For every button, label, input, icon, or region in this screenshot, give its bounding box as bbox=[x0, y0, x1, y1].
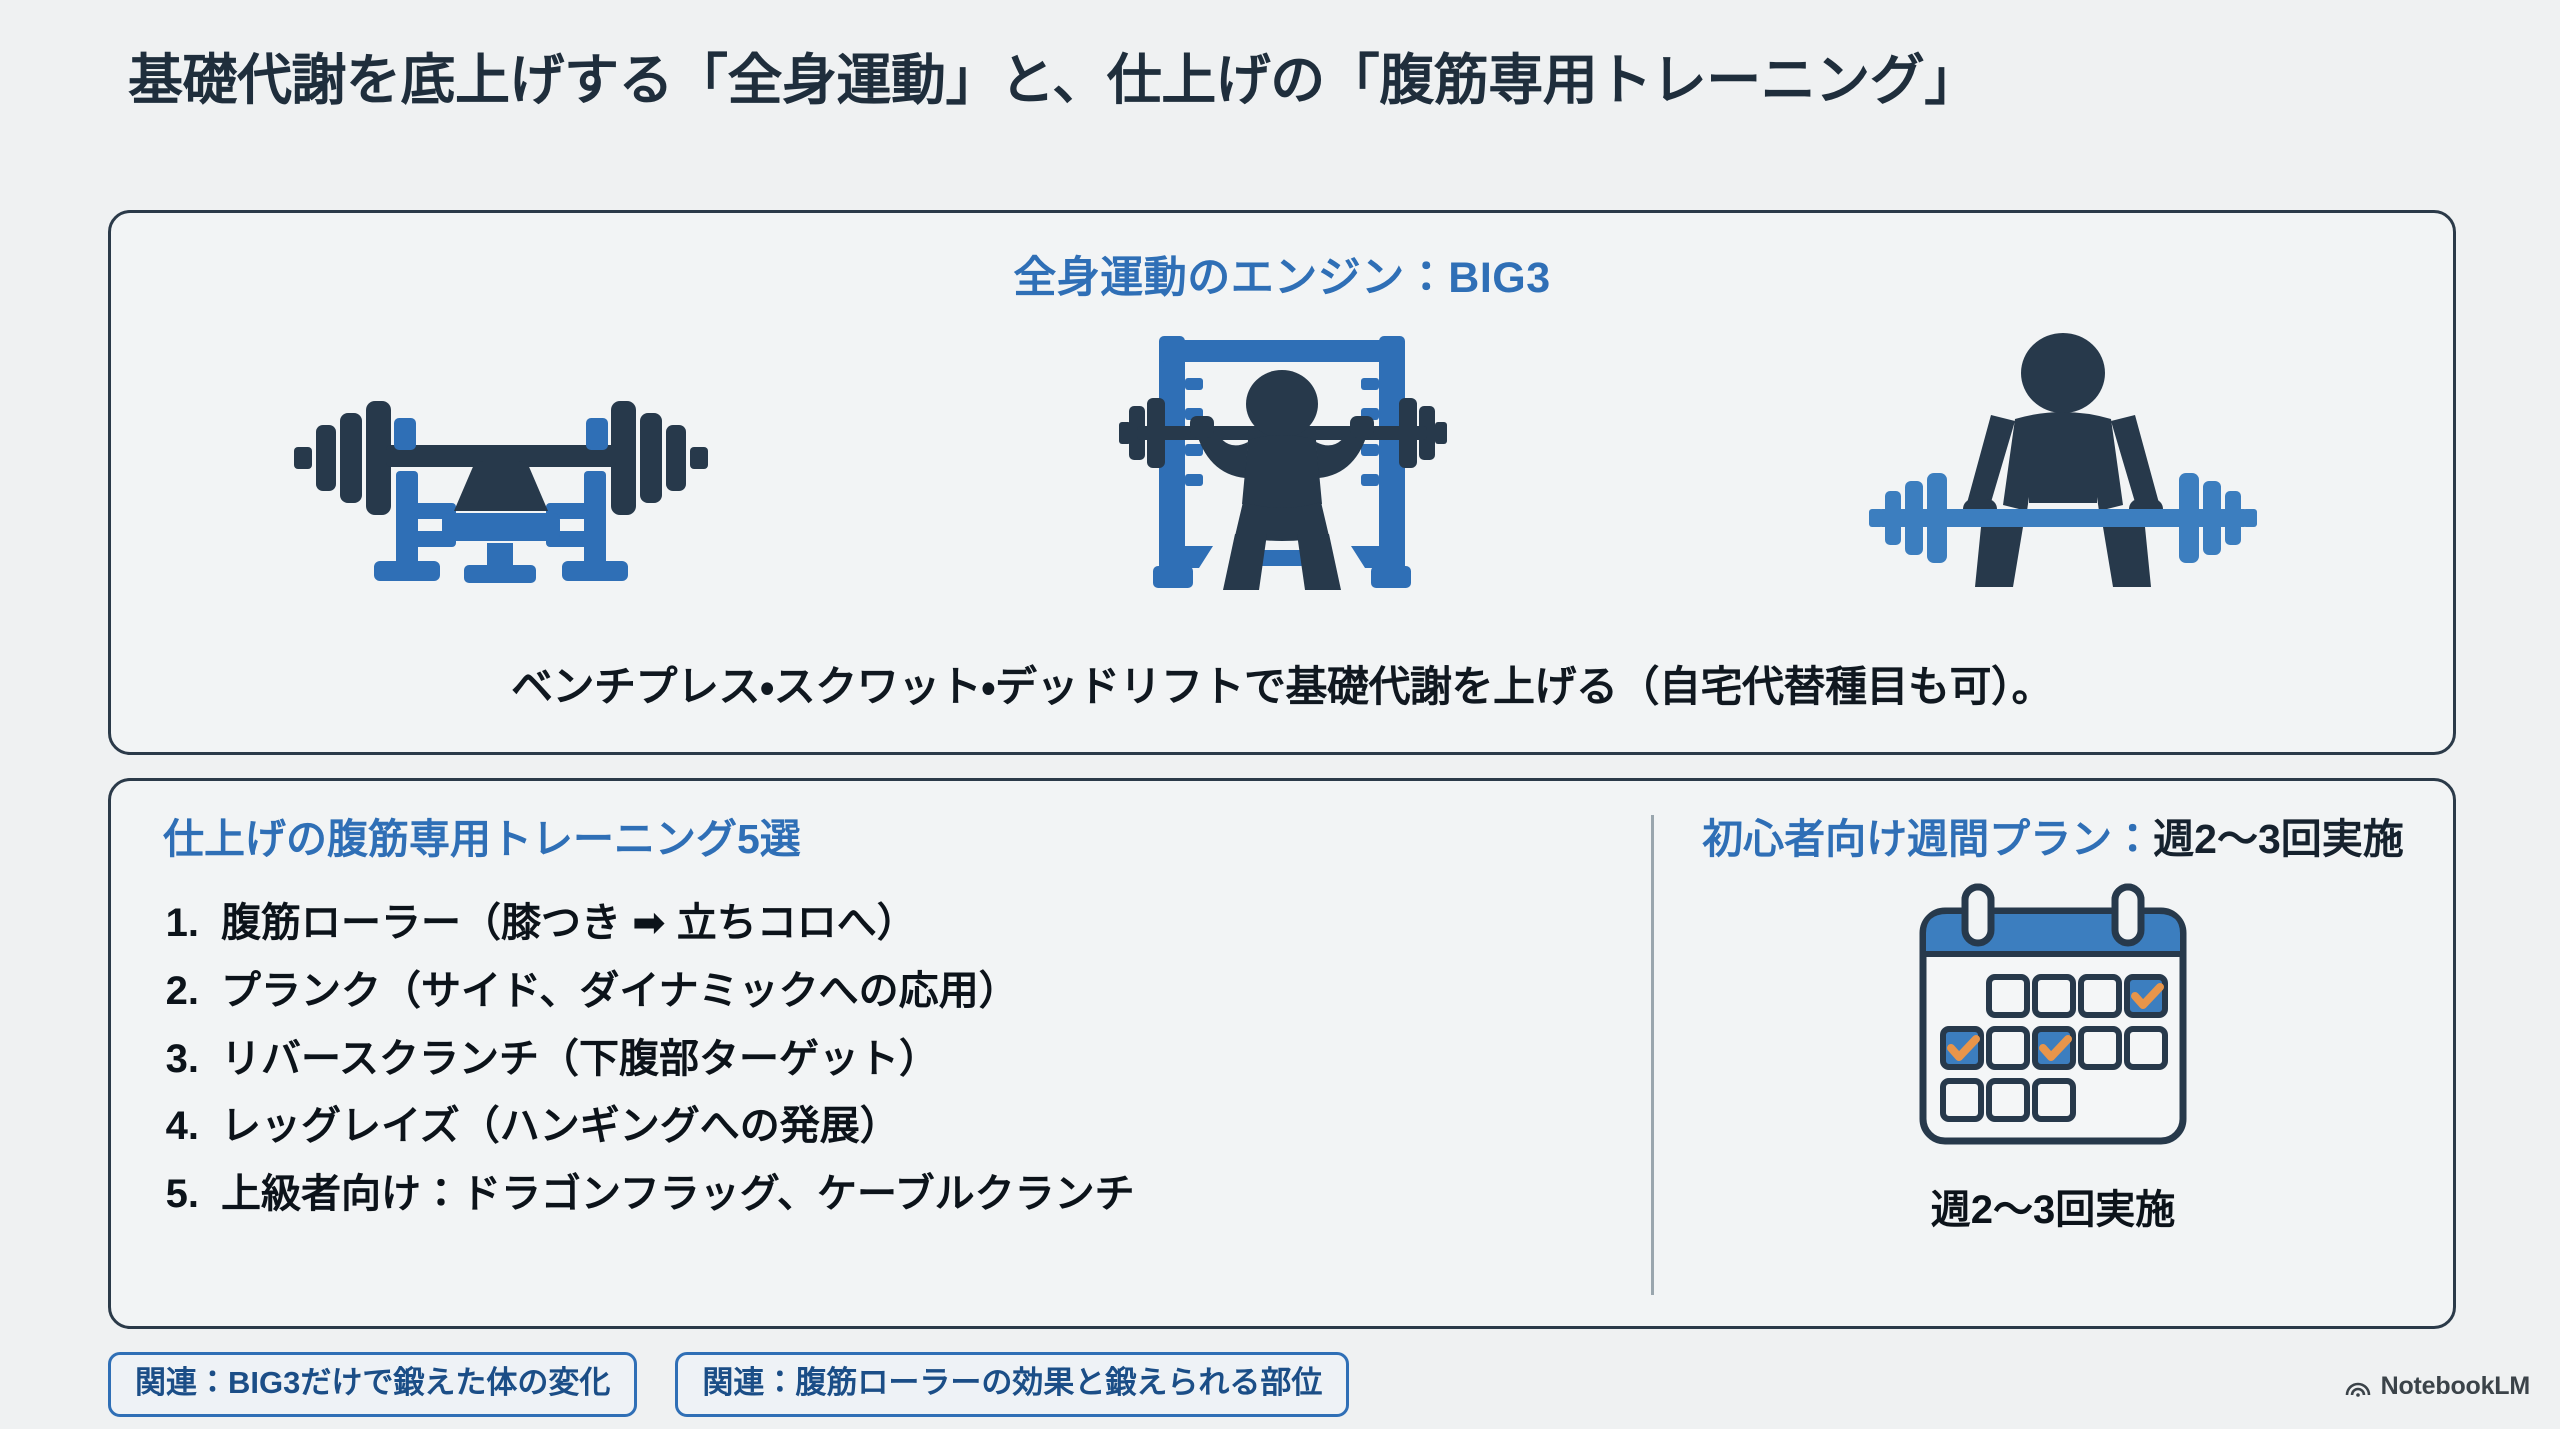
calendar-icon bbox=[1907, 883, 2199, 1155]
notebooklm-label: NotebookLM bbox=[2381, 1372, 2530, 1401]
list-item: 5. 上級者向け：ドラゴンフラッグ、ケーブルクランチ bbox=[149, 1170, 1609, 1219]
abs-and-plan-panel: 仕上げの腹筋専用トレーニング5選 1. 腹筋ローラー（膝つき ➡ 立ちコロへ） … bbox=[108, 778, 2456, 1329]
plan-column: 初心者向け週間プラン：週2〜3回実施 bbox=[1683, 805, 2423, 1305]
calendar-wrapper bbox=[1683, 883, 2423, 1155]
list-item-number: 5. bbox=[149, 1170, 221, 1219]
deadlift-icon bbox=[1783, 318, 2343, 608]
big3-panel: 全身運動のエンジン：BIG3 bbox=[108, 210, 2456, 755]
column-divider bbox=[1651, 815, 1654, 1295]
infographic-page: 基礎代謝を底上げする「全身運動」と、仕上げの「腹筋専用トレーニング」 全身運動の… bbox=[0, 0, 2560, 1429]
abs-list: 1. 腹筋ローラー（膝つき ➡ 立ちコロへ） 2. プランク（サイド、ダイナミッ… bbox=[149, 899, 1609, 1219]
list-item-number: 2. bbox=[149, 967, 221, 1016]
list-item: 1. 腹筋ローラー（膝つき ➡ 立ちコロへ） bbox=[149, 899, 1609, 948]
squat-rack-icon bbox=[1002, 318, 1562, 608]
list-item: 4. レッグレイズ（ハンギングへの発展） bbox=[149, 1102, 1609, 1151]
big3-caption: ベンチプレス・スクワット・デッドリフトで基礎代謝を上げる（自宅代替種目も可）。 bbox=[111, 653, 2453, 714]
plan-heading: 初心者向け週間プラン：週2〜3回実施 bbox=[1683, 805, 2423, 865]
list-item-label: 上級者向け：ドラゴンフラッグ、ケーブルクランチ bbox=[221, 1170, 1609, 1219]
list-item-label: レッグレイズ（ハンギングへの発展） bbox=[221, 1102, 1609, 1151]
abs-heading: 仕上げの腹筋専用トレーニング5選 bbox=[163, 805, 1609, 865]
list-item-label: 腹筋ローラー（膝つき ➡ 立ちコロへ） bbox=[221, 899, 1609, 948]
big3-heading: 全身運動のエンジン：BIG3 bbox=[111, 243, 2453, 305]
related-chip-big3[interactable]: 関連：BIG3だけで鍛えた体の変化 bbox=[108, 1352, 637, 1417]
list-item-label: リバースクランチ（下腹部ターゲット） bbox=[221, 1035, 1609, 1084]
list-item: 3. リバースクランチ（下腹部ターゲット） bbox=[149, 1035, 1609, 1084]
bench-press-icon bbox=[221, 318, 781, 608]
abs-column: 仕上げの腹筋専用トレーニング5選 1. 腹筋ローラー（膝つき ➡ 立ちコロへ） … bbox=[149, 805, 1609, 1305]
notebooklm-logo-icon bbox=[2344, 1376, 2372, 1398]
related-chip-ab-roller[interactable]: 関連：腹筋ローラーの効果と鍛えられる部位 bbox=[675, 1352, 1349, 1417]
related-links: 関連：BIG3だけで鍛えた体の変化 関連：腹筋ローラーの効果と鍛えられる部位 bbox=[108, 1352, 1349, 1417]
plan-caption: 週2〜3回実施 bbox=[1683, 1177, 2423, 1235]
plan-heading-main: 初心者向け週間プラン： bbox=[1702, 816, 2153, 862]
big3-icon-row bbox=[111, 313, 2453, 613]
list-item-number: 1. bbox=[149, 899, 221, 948]
plan-heading-tail: 週2〜3回実施 bbox=[2153, 816, 2404, 862]
list-item-number: 4. bbox=[149, 1102, 221, 1151]
list-item-number: 3. bbox=[149, 1035, 221, 1084]
page-title: 基礎代謝を底上げする「全身運動」と、仕上げの「腹筋専用トレーニング」 bbox=[128, 48, 2458, 113]
list-item: 2. プランク（サイド、ダイナミックへの応用） bbox=[149, 967, 1609, 1016]
list-item-label: プランク（サイド、ダイナミックへの応用） bbox=[221, 967, 1609, 1016]
notebooklm-watermark: NotebookLM bbox=[2344, 1372, 2530, 1401]
